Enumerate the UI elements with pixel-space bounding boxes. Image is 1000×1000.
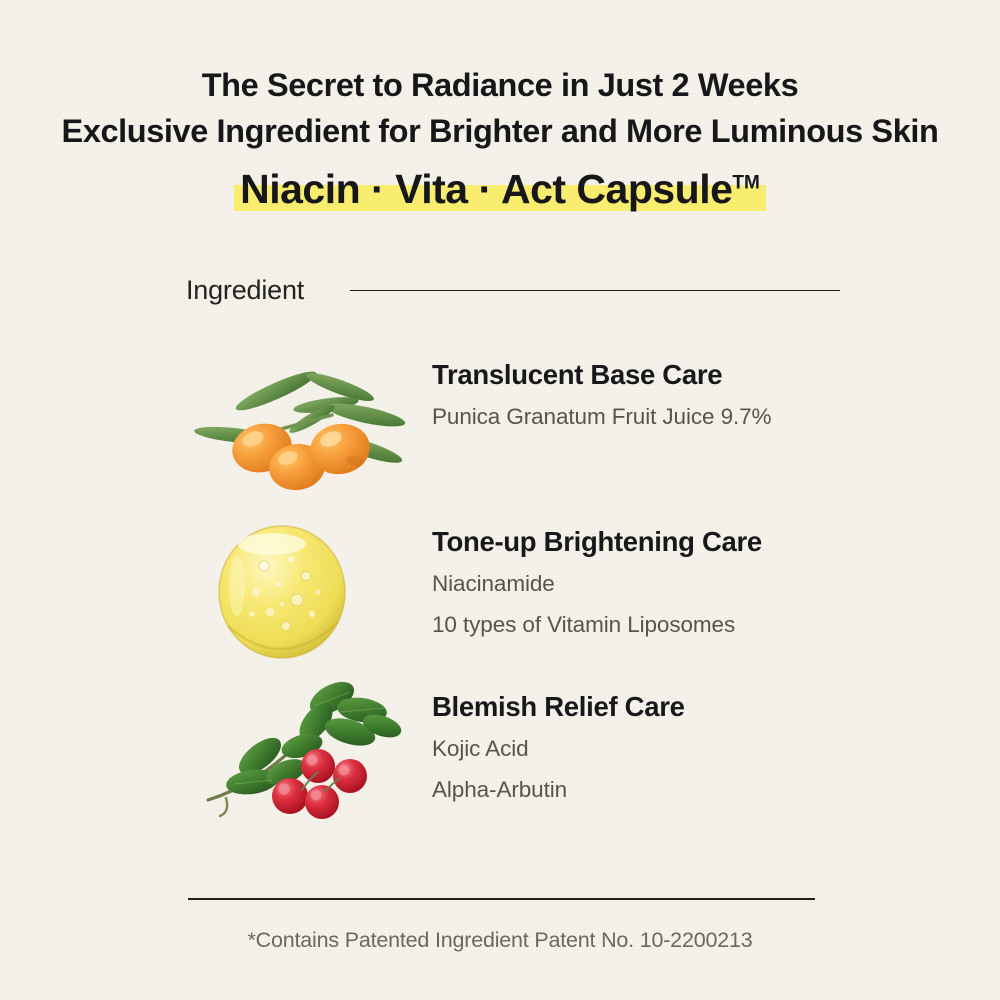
ingredient-detail: Niacinamide — [432, 565, 762, 602]
ingredient-list: Translucent Base Care Punica Granatum Fr… — [186, 348, 866, 837]
ingredient-detail: Alpha-Arbutin — [432, 771, 685, 808]
ingredient-text-block: Tone-up Brightening Care Niacinamide 10 … — [418, 511, 762, 643]
ingredient-section-header: Ingredient — [186, 275, 840, 306]
section-divider-line — [350, 290, 840, 292]
ingredient-detail: Kojic Acid — [432, 730, 685, 767]
lingonberry-sprig-image — [186, 674, 418, 834]
lingonberry-sprig-icon — [190, 674, 415, 834]
header: The Secret to Radiance in Just 2 Weeks E… — [0, 62, 1000, 213]
brand-name-text: Niacin · Vita · Act Capsule — [240, 166, 732, 212]
ingredient-text-block: Translucent Base Care Punica Granatum Fr… — [418, 348, 771, 435]
ingredient-detail: 10 types of Vitamin Liposomes — [432, 606, 762, 643]
yellow-gel-droplet-icon — [190, 514, 415, 669]
headline-line-1: The Secret to Radiance in Just 2 Weeks — [0, 62, 1000, 108]
ingredient-title: Translucent Base Care — [432, 358, 771, 392]
brand-name-block: Niacin · Vita · Act CapsuleTM — [234, 166, 766, 213]
ingredient-row: Translucent Base Care Punica Granatum Fr… — [186, 348, 866, 511]
sea-buckthorn-berries-image — [186, 348, 418, 508]
ingredient-detail: Punica Granatum Fruit Juice 9.7% — [432, 398, 771, 435]
trademark-symbol: TM — [732, 172, 759, 193]
ingredient-row: Tone-up Brightening Care Niacinamide 10 … — [186, 511, 866, 674]
footer-divider-line — [188, 898, 815, 900]
ingredient-title: Blemish Relief Care — [432, 690, 685, 724]
brand-name: Niacin · Vita · Act CapsuleTM — [240, 166, 760, 212]
sea-buckthorn-berries-icon — [190, 353, 415, 503]
section-title: Ingredient — [186, 275, 304, 306]
patent-footnote: *Contains Patented Ingredient Patent No.… — [0, 928, 1000, 953]
yellow-gel-capsule-droplet-image — [186, 511, 418, 671]
ingredient-title: Tone-up Brightening Care — [432, 525, 762, 559]
headline-line-2: Exclusive Ingredient for Brighter and Mo… — [0, 108, 1000, 154]
ingredient-row: Blemish Relief Care Kojic Acid Alpha-Arb… — [186, 674, 866, 837]
ingredient-text-block: Blemish Relief Care Kojic Acid Alpha-Arb… — [418, 674, 685, 808]
ingredient-infographic-page: The Secret to Radiance in Just 2 Weeks E… — [0, 0, 1000, 1000]
